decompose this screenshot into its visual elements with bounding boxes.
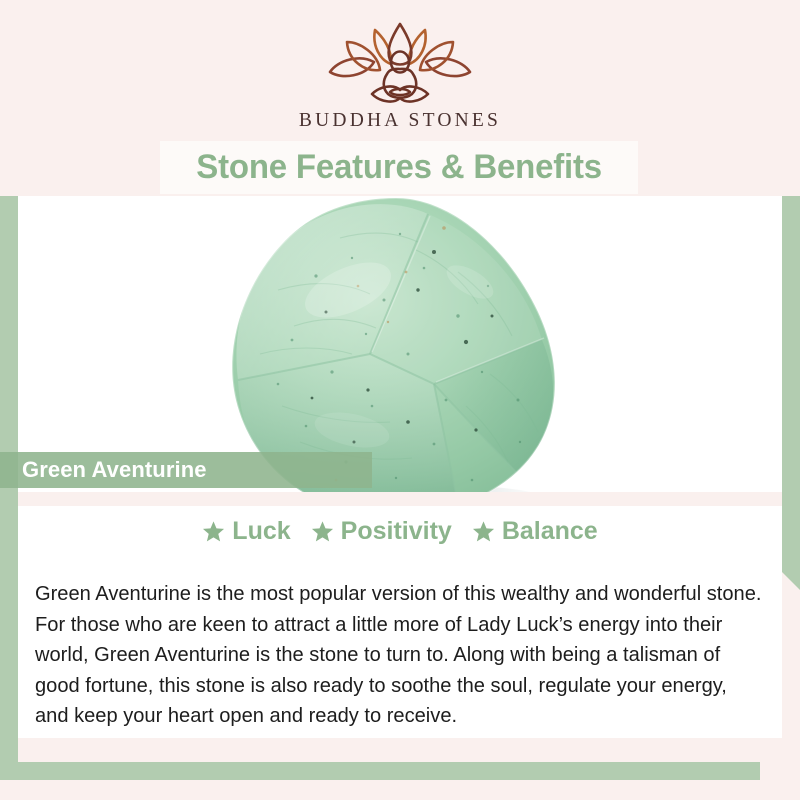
lotus-meditation-icon	[316, 18, 484, 106]
green-aventurine-stone-image	[220, 196, 580, 492]
benefit-item: Luck	[202, 517, 290, 546]
page-title: Stone Features & Benefits	[196, 148, 602, 187]
stone-photo	[18, 196, 782, 492]
description-panel: Luck Positivity Balance Green Aventurine…	[18, 506, 782, 738]
benefit-label: Positivity	[341, 517, 452, 546]
benefit-item: Balance	[472, 517, 598, 546]
star-icon	[202, 520, 225, 543]
title-plate: Stone Features & Benefits	[160, 141, 638, 194]
benefit-label: Balance	[502, 517, 598, 546]
star-icon	[472, 520, 495, 543]
benefits-row: Luck Positivity Balance	[18, 517, 782, 546]
frame-band-right-bevel	[782, 572, 800, 590]
stone-name-banner: Green Aventurine	[0, 452, 372, 488]
stone-info-poster: BUDDHA STONES Stone Features & Benefits	[0, 0, 800, 800]
benefit-label: Luck	[232, 517, 290, 546]
brand-wordmark: BUDDHA STONES	[0, 110, 800, 132]
stone-description: Green Aventurine is the most popular ver…	[35, 579, 762, 732]
frame-band-bottom	[0, 762, 760, 780]
frame-band-left	[0, 196, 18, 780]
brand-logo: BUDDHA STONES	[0, 18, 800, 132]
divider-strip	[18, 492, 782, 506]
star-icon	[311, 520, 334, 543]
stone-name: Green Aventurine	[22, 457, 207, 483]
benefit-item: Positivity	[311, 517, 452, 546]
